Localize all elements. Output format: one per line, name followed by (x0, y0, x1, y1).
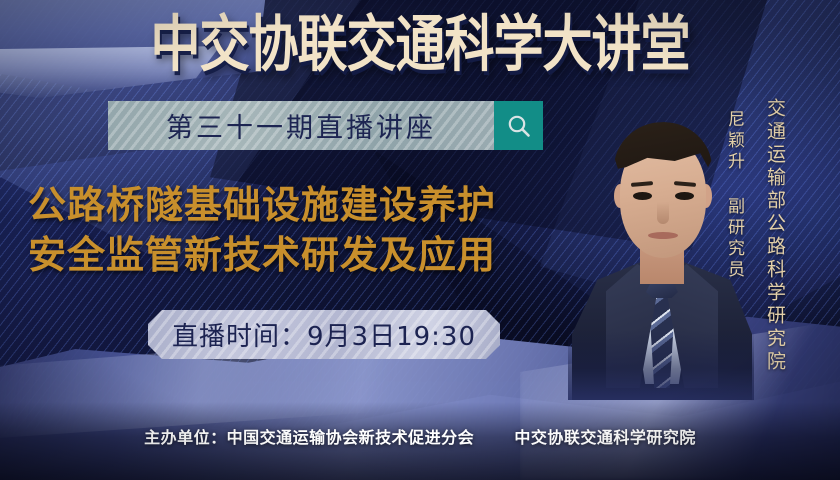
speaker-name-title: 尼颖升 副研究员 (725, 110, 742, 281)
portrait-eye-left (633, 192, 652, 200)
schedule-label: 直播时间：9月3日19:30 (172, 316, 476, 353)
search-icon-box[interactable] (494, 101, 543, 150)
episode-bar-body: 第三十一期直播讲座 (108, 101, 494, 150)
portrait-nose (657, 202, 669, 224)
portrait-eye-right (675, 192, 694, 200)
portrait-mouth (648, 232, 678, 239)
livestream-poster: 交通运输部公路科学研究院 尼颖升 副研究员 中交协联交通科学大讲堂 第三十一期直… (0, 0, 840, 480)
page-title: 中交协联交通科学大讲堂 (0, 14, 840, 75)
footer-organizer-secondary: 中交协联交通科学研究院 (514, 428, 696, 447)
search-icon (506, 113, 532, 139)
footer-organizer-primary: 主办单位：中国交通运输协会新技术促进分会 (144, 428, 474, 447)
footer-organizers: 主办单位：中国交通运输协会新技术促进分会 中交协联交通科学研究院 (0, 424, 840, 448)
lecture-topic-line-1: 公路桥隧基础设施建设养护 (28, 180, 573, 230)
lecture-topic: 公路桥隧基础设施建设养护 安全监管新技术研发及应用 (28, 180, 573, 280)
speaker-organization: 交通运输部公路科学研究院 (765, 98, 784, 374)
lecture-topic-line-2: 安全监管新技术研发及应用 (28, 230, 573, 280)
schedule-badge: 直播时间：9月3日19:30 (148, 310, 500, 359)
portrait-bottom-fade (568, 330, 754, 400)
episode-label: 第三十一期直播讲座 (166, 106, 436, 145)
episode-bar: 第三十一期直播讲座 (108, 101, 543, 150)
